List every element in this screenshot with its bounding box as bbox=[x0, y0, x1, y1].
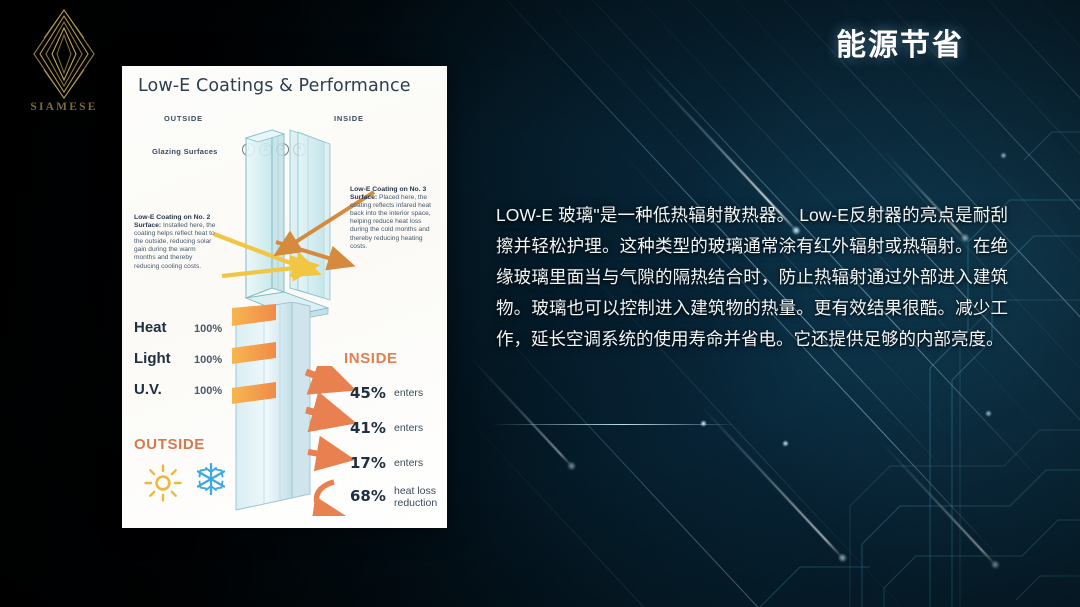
note-no2-body: Installed here, the coating helps reflec… bbox=[134, 222, 215, 269]
result-value-68: 68% bbox=[350, 487, 386, 505]
stat-label-uv: U.V. bbox=[134, 381, 162, 398]
brand-name: SIAMESE bbox=[18, 101, 110, 113]
label-outside-bottom: OUTSIDE bbox=[134, 436, 205, 453]
brand-logo: SIAMESE bbox=[18, 8, 110, 128]
note-no2-surface: Low-E Coating on No. 2 Surface: Installe… bbox=[134, 214, 218, 271]
result-label-45: enters bbox=[394, 388, 423, 400]
infographic-card: Low-E Coatings & Performance OUTSIDE INS… bbox=[122, 66, 447, 528]
result-label-41: enters bbox=[394, 423, 423, 435]
label-glazing-surfaces: Glazing Surfaces bbox=[152, 147, 218, 156]
snowflake-icon bbox=[194, 462, 228, 496]
result-label-17: enters bbox=[394, 458, 423, 470]
stat-value-uv: 100% bbox=[194, 385, 222, 397]
stat-value-heat: 100% bbox=[194, 323, 222, 335]
body-paragraph: LOW-E 玻璃"是一种低热辐射散热器。 Low-E反射器的亮点是耐刮擦并轻松护… bbox=[496, 200, 1008, 355]
slide-root: SIAMESE 能源节省 LOW-E 玻璃"是一种低热辐射散热器。 Low-E反… bbox=[0, 0, 1080, 607]
stat-label-light: Light bbox=[134, 350, 171, 367]
page-title: 能源节省 bbox=[760, 20, 1040, 64]
diamond-logo-icon bbox=[32, 8, 96, 100]
result-value-17: 17% bbox=[350, 454, 386, 472]
outgoing-energy-arrows bbox=[304, 366, 356, 516]
page-title-wrap: 能源节省 bbox=[760, 20, 1040, 64]
sun-icon bbox=[144, 464, 182, 502]
infographic-title: Low-E Coatings & Performance bbox=[138, 76, 411, 96]
label-inside-bottom: INSIDE bbox=[344, 350, 398, 367]
result-label-68: heat loss reduction bbox=[394, 486, 446, 509]
stat-value-light: 100% bbox=[194, 354, 222, 366]
note-no3-surface: Low-E Coating on No. 3 Surface: Placed h… bbox=[350, 186, 434, 251]
incoming-energy-bands bbox=[232, 304, 302, 484]
result-value-41: 41% bbox=[350, 419, 386, 437]
stat-label-heat: Heat bbox=[134, 319, 167, 336]
label-outside-top: OUTSIDE bbox=[164, 114, 203, 123]
note-no3-body: Placed here, the coating reflects infare… bbox=[350, 194, 431, 250]
result-value-45: 45% bbox=[350, 384, 386, 402]
